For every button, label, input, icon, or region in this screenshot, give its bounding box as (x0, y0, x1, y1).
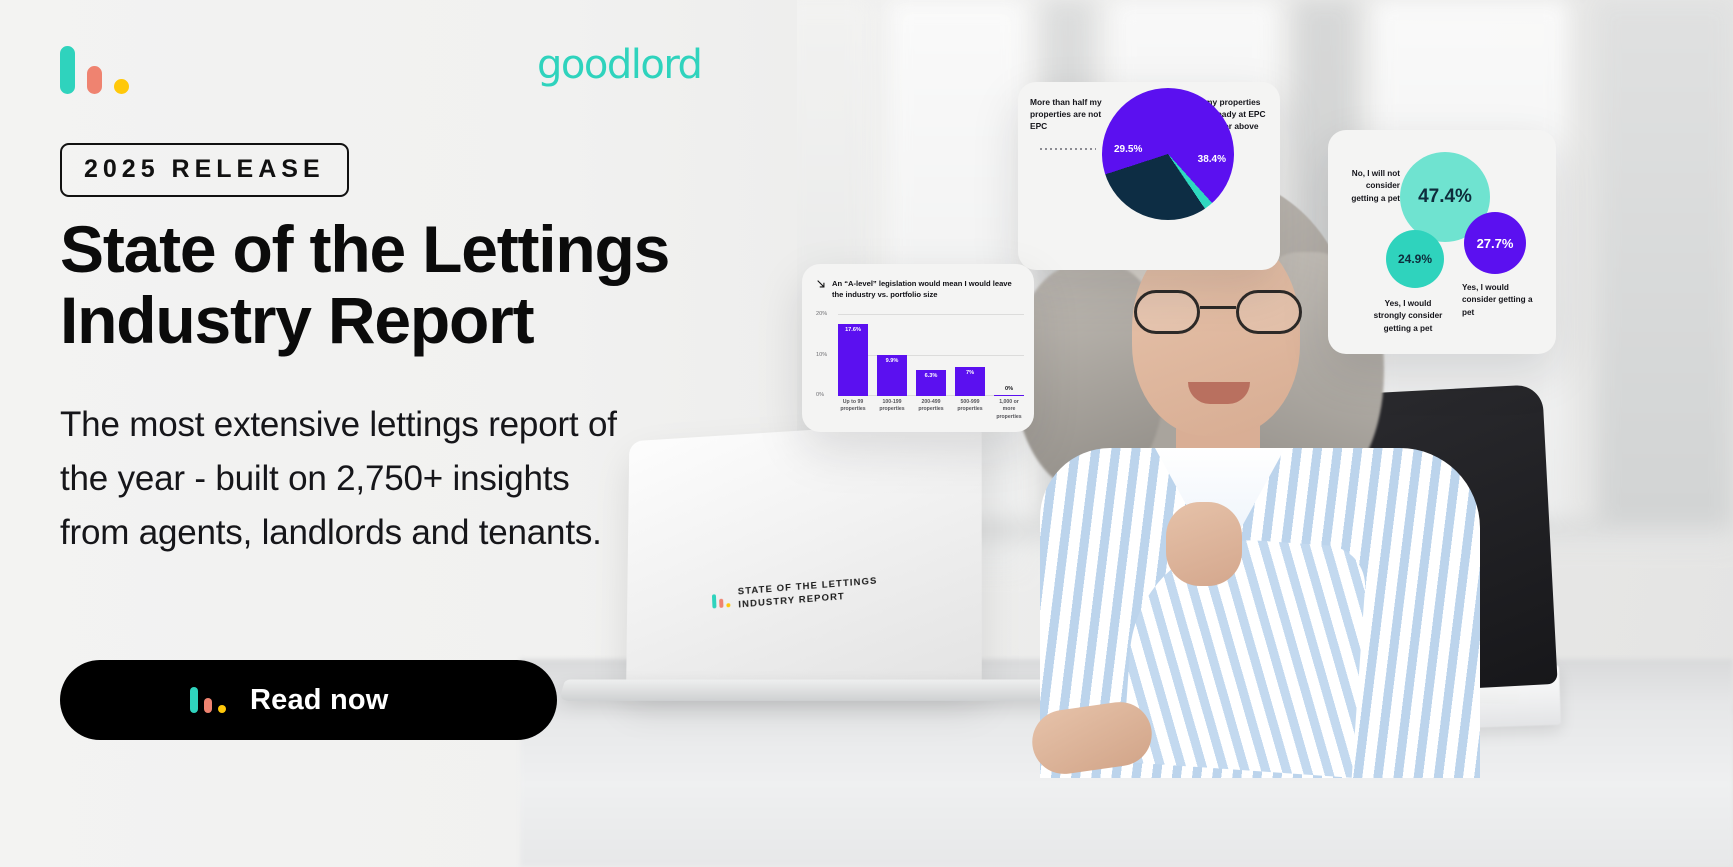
bubble-yes-strongly: 24.9% (1386, 230, 1444, 288)
read-now-label: Read now (250, 684, 389, 717)
chart-card-epc-pie: More than half my properties are not EPC… (1018, 82, 1280, 270)
bar-value-1: 9.9% (877, 358, 907, 364)
hand-on-chin (1166, 502, 1242, 586)
bar-value-0: 17.6% (838, 327, 868, 333)
headline-line-1: State of the Lettings (60, 212, 669, 286)
bar-x-axis-labels: Up to 99 properties 100-199 properties 2… (838, 399, 1024, 422)
bar-series: 17.6% 9.9% 6.3% 7% 0% (838, 314, 1024, 396)
bubble-label-consider: Yes, I would consider getting a pet (1462, 282, 1538, 319)
pie-value-2: 38.4% (1198, 154, 1226, 165)
hero-content: 2025 RELEASE State of the Lettings Indus… (60, 0, 780, 867)
pie-chart: 29.5% 38.4% (1102, 88, 1234, 220)
bubble-yes-consider: 27.7% (1464, 212, 1526, 274)
headline-line-2: Industry Report (60, 283, 533, 357)
chart-card-pets-bubble: No, I will not consider getting a pet 47… (1328, 130, 1556, 354)
bar-value-2: 6.3% (916, 373, 946, 379)
page-title: State of the Lettings Industry Report (60, 214, 760, 357)
y-tick-20: 20% (816, 311, 827, 317)
bubble-label-strongly: Yes, I would strongly consider getting a… (1372, 298, 1444, 335)
x-label-0: Up to 99 properties (838, 399, 868, 422)
logo-dot-yellow (114, 79, 129, 94)
cta-bars-icon (190, 687, 226, 713)
read-now-button[interactable]: Read now (60, 660, 557, 740)
pie-value-1: 29.5% (1114, 144, 1142, 155)
goodlord-logo-svg: goodlord (537, 44, 705, 90)
x-label-4: 1,000 or more properties (994, 399, 1024, 422)
bar-value-4: 0% (994, 386, 1024, 392)
x-label-3: 500-999 properties (955, 399, 985, 422)
release-badge: 2025 RELEASE (60, 143, 349, 197)
x-label-1: 100-199 properties (877, 399, 907, 422)
bar-chart-title: An “A-level” legislation would mean I wo… (832, 278, 1022, 300)
y-tick-0: 0% (816, 392, 824, 398)
bar-chart-header: An “A-level” legislation would mean I wo… (816, 278, 1022, 300)
hero-banner: STATE OF THE LETTINGS INDUSTRY REPORT Mo… (0, 0, 1733, 867)
bar-value-3: 7% (955, 370, 985, 376)
logo-bar-teal (60, 46, 75, 94)
bar-chart-plot: 20% 10% 0% 17.6% 9.9% 6.3% 7% 0% (838, 314, 1024, 396)
goodlord-wordmark: goodlord (537, 44, 705, 95)
pie-leader-dots (1040, 148, 1096, 150)
bubble-label-no: No, I will not consider getting a pet (1338, 168, 1400, 205)
y-tick-10: 10% (816, 352, 827, 358)
goodlord-logo-text: goodlord (537, 44, 701, 88)
logo-bar-coral (87, 66, 102, 94)
hero-subhead: The most extensive lettings report of th… (60, 398, 620, 560)
goodlord-bars-logo (60, 46, 129, 94)
glasses-icon (1130, 290, 1306, 334)
arrow-down-right-icon (816, 279, 826, 289)
chart-card-a-level-bar: An “A-level” legislation would mean I wo… (802, 264, 1034, 432)
x-label-2: 200-499 properties (916, 399, 946, 422)
